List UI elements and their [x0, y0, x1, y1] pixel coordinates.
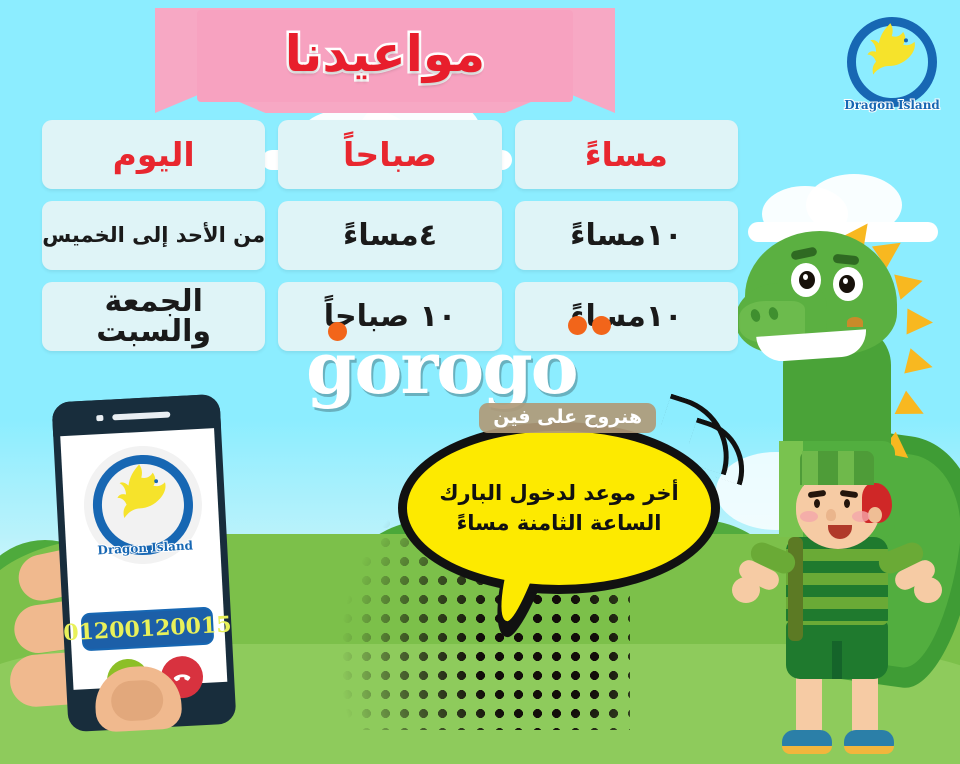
cell-day-1: الجمعة والسبت [42, 282, 265, 351]
cell-value-morning-0: ٤مساءً [343, 221, 437, 251]
table-header-row: اليوم صباحاً مساءً [42, 120, 738, 189]
cell-morning-0: ٤مساءً [278, 201, 501, 270]
cell-value-evening-0: ١٠مساءً [570, 221, 682, 251]
cell-value-evening-1: ١٠مساءً [570, 302, 682, 332]
boy-character [740, 455, 940, 755]
cell-value-day-0: من الأحد إلى الخميس [42, 225, 265, 246]
cell-value-day-1: الجمعة والسبت [42, 287, 265, 347]
banner: مواعيدنا [155, 8, 615, 113]
cell-day-0: من الأحد إلى الخميس [42, 201, 265, 270]
page-title: مواعيدنا [155, 8, 615, 113]
corner-logo: Dragon Island [838, 8, 946, 116]
phone-number: 01200120015 [63, 612, 233, 647]
bubble-line-2: الساعة الثامنة مساءً [457, 510, 662, 536]
corner-logo-name: Dragon Island [838, 98, 946, 112]
phone-mockup: Dragon Island 01200120015 [51, 394, 236, 732]
bubble-line-1: أخر موعد لدخول البارك [439, 480, 678, 506]
header-cell-morning: صباحاً [278, 120, 501, 189]
dragon-icon [855, 19, 928, 90]
thumb-nail [110, 679, 164, 722]
poster-canvas: أخر موعد لدخول البارك الساعة الثامنة مسا… [0, 0, 960, 764]
header-label-evening: مساءً [585, 138, 668, 171]
cell-evening-0: ١٠مساءً [515, 201, 738, 270]
watermark: gorogo هنروح على فين [306, 336, 656, 433]
watermark-text: gorogo [306, 336, 656, 401]
logo-name: Dragon Island [86, 537, 205, 557]
watermark-dot-right-a [568, 316, 587, 335]
watermark-tagline: هنروح على فين [479, 403, 656, 433]
header-label-day: اليوم [113, 138, 195, 171]
watermark-dot-right-b [592, 316, 611, 335]
header-label-morning: صباحاً [343, 138, 437, 171]
header-cell-day: اليوم [42, 120, 265, 189]
phone-logo: Dragon Island [81, 443, 205, 567]
header-cell-evening: مساءً [515, 120, 738, 189]
phone-camera [96, 415, 103, 421]
watermark-dot-left [328, 322, 347, 341]
phone-number-pill: 01200120015 [81, 606, 215, 651]
phone-screen: Dragon Island 01200120015 [60, 428, 227, 690]
table-row: من الأحد إلى الخميس ٤مساءً ١٠مساءً [42, 201, 738, 270]
dragon-icon [103, 458, 182, 535]
